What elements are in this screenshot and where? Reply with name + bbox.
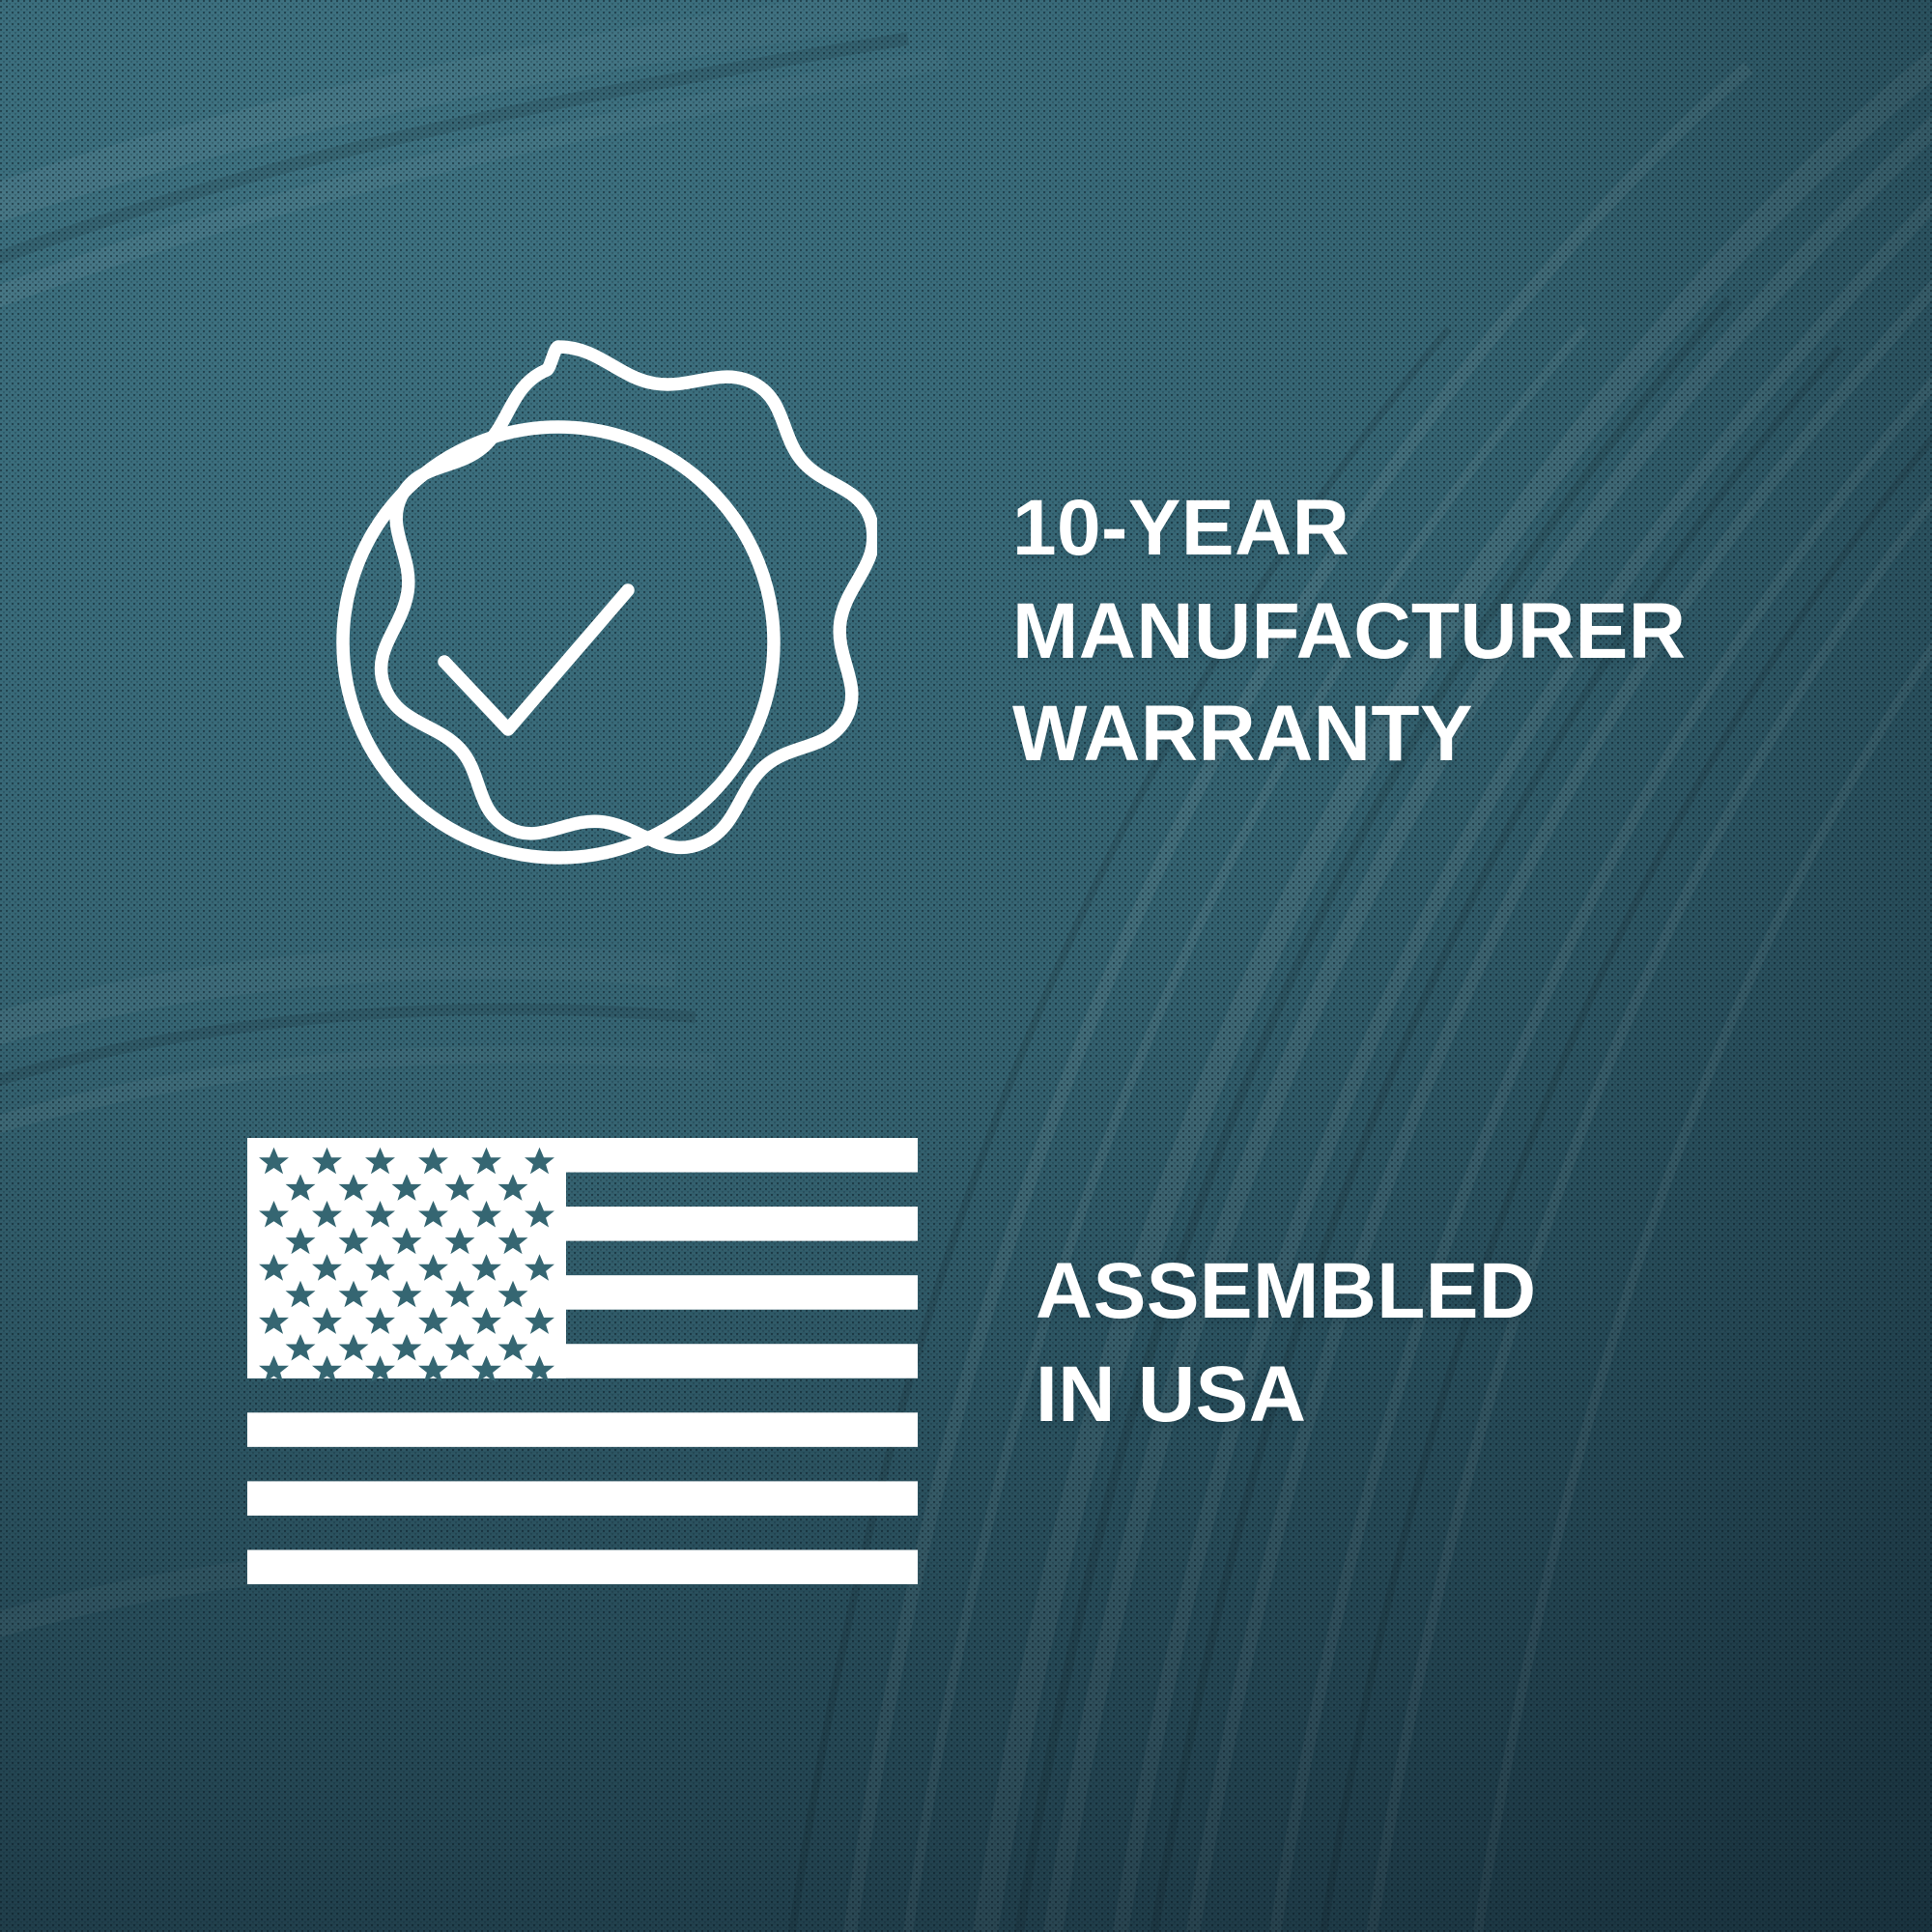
warranty-headline-block: 10-YEAR MANUFACTURER WARRANTY (1012, 477, 1686, 786)
background-vignette (0, 0, 1932, 1932)
background-swoosh-highlights (0, 0, 1932, 1932)
background-base-gradient (0, 0, 1932, 1932)
assembly-headline: ASSEMBLED IN USA (1036, 1240, 1537, 1446)
verified-badge-check-icon (240, 333, 877, 961)
background-mesh-dots (0, 0, 1932, 1932)
promo-graphic-canvas: 10-YEAR MANUFACTURER WARRANTY ASSEMBLED … (0, 0, 1932, 1932)
assembly-headline-block: ASSEMBLED IN USA (1036, 1240, 1537, 1446)
warranty-headline: 10-YEAR MANUFACTURER WARRANTY (1012, 477, 1686, 786)
background-swoosh-shadows (0, 0, 1932, 1932)
background-knit-weave (0, 0, 1932, 1932)
usa-flag-icon (247, 1138, 918, 1584)
